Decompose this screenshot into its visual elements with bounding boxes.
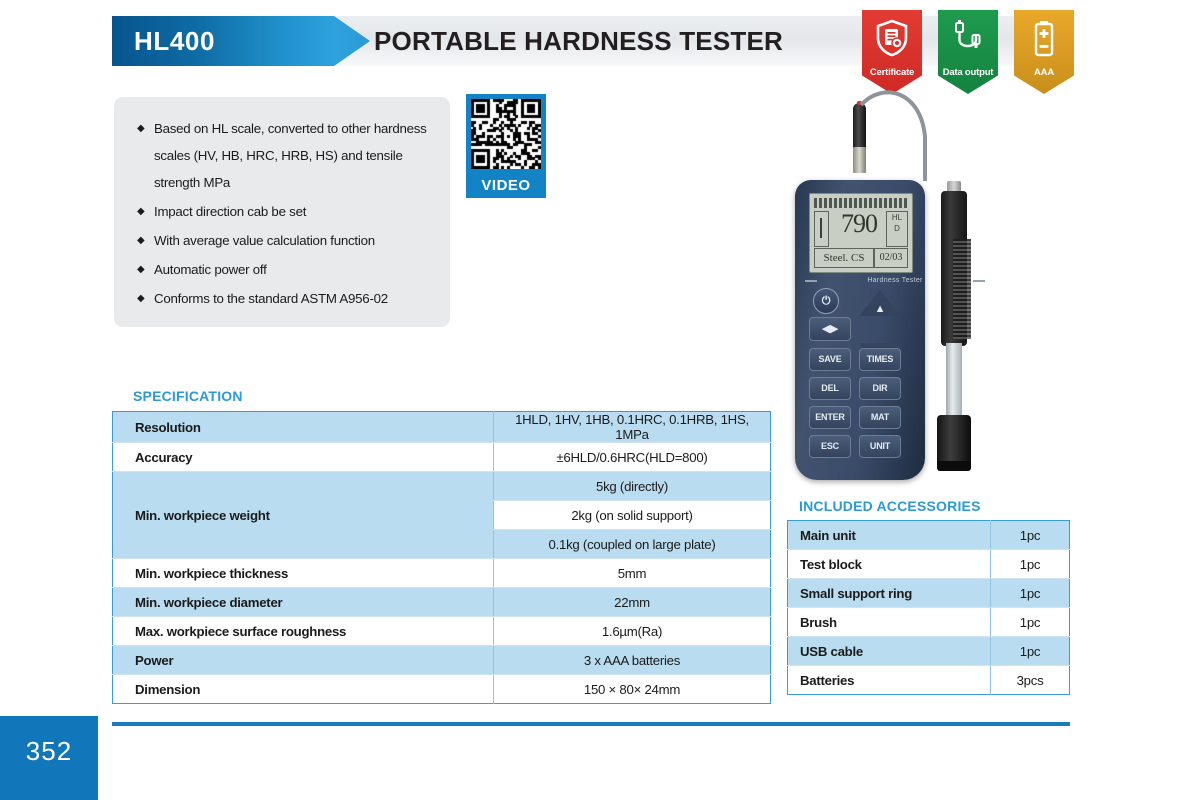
feature-text: Conforms to the standard ASTM A956-02 xyxy=(154,291,388,306)
battery-badge: AAA xyxy=(1014,10,1074,94)
model-name: HL400 xyxy=(134,16,215,66)
specification-title: SPECIFICATION xyxy=(133,388,243,404)
lcd-hardness-value: 790 xyxy=(830,209,888,239)
spec-label: Min. workpiece thickness xyxy=(113,559,494,588)
data-output-badge-label: Data output xyxy=(938,67,998,78)
footer-rule xyxy=(112,722,1070,726)
up-button[interactable]: ▲ xyxy=(859,290,901,316)
catalog-page: HL400 PORTABLE HARDNESS TESTER Certifica… xyxy=(0,0,1184,800)
certificate-shield-icon xyxy=(862,18,922,60)
diamond-bullet-icon: ◆ xyxy=(137,285,144,312)
table-row: Min. workpiece diameter 22mm xyxy=(113,588,771,617)
accessory-qty: 3pcs xyxy=(991,666,1070,695)
lcd-display: 790 HLD Steel. CS 02/03 xyxy=(809,193,913,273)
spec-label: Power xyxy=(113,646,494,675)
unit-button[interactable]: UNIT xyxy=(859,435,901,458)
diamond-bullet-icon: ◆ xyxy=(137,256,144,283)
accessory-label: Main unit xyxy=(788,521,991,550)
table-row: Batteries 3pcs xyxy=(788,666,1070,695)
diamond-bullet-icon: ◆ xyxy=(137,227,144,254)
impact-direction-icon xyxy=(814,211,829,247)
table-row: Small support ring 1pc xyxy=(788,579,1070,608)
spec-value: 22mm xyxy=(494,588,771,617)
probe-support-ring xyxy=(937,415,971,467)
accessory-label: Small support ring xyxy=(788,579,991,608)
table-row: Max. workpiece surface roughness 1.6µm(R… xyxy=(113,617,771,646)
feature-text: Based on HL scale, converted to other ha… xyxy=(154,121,427,190)
table-row: Resolution 1HLD, 1HV, 1HB, 0.1HRC, 0.1HR… xyxy=(113,412,771,443)
feature-item: ◆ Automatic power off xyxy=(136,256,438,283)
enter-button[interactable]: ENTER xyxy=(809,406,851,429)
certificate-badge-label: Certificate xyxy=(862,67,922,78)
spec-label: Min. workpiece weight xyxy=(113,472,494,559)
accessory-label: USB cable xyxy=(788,637,991,666)
table-row: Power 3 x AAA batteries xyxy=(113,646,771,675)
data-output-badge: Data output xyxy=(938,10,998,94)
up-glyph: ▲ xyxy=(859,299,901,320)
spec-value: 150 × 80× 24mm xyxy=(494,675,771,704)
accessory-label: Batteries xyxy=(788,666,991,695)
spec-label: Dimension xyxy=(113,675,494,704)
specification-table: Resolution 1HLD, 1HV, 1HB, 0.1HRC, 0.1HR… xyxy=(112,411,771,704)
video-qr-block[interactable]: VIDEO xyxy=(466,94,546,198)
video-label: VIDEO xyxy=(466,174,546,198)
dir-button[interactable]: DIR xyxy=(859,377,901,400)
accessory-label: Test block xyxy=(788,550,991,579)
spec-value: 3 x AAA batteries xyxy=(494,646,771,675)
spec-label: Min. workpiece diameter xyxy=(113,588,494,617)
spec-value: 1.6µm(Ra) xyxy=(494,617,771,646)
lcd-main-row: 790 HLD xyxy=(814,211,908,245)
spec-value: 0.1kg (coupled on large plate) xyxy=(494,530,771,559)
device-keypad: ⏻ ◀▶ ▲ ▼ SAVE TIMES DEL DIR ENTER MAT ES… xyxy=(805,290,915,470)
page-title: PORTABLE HARDNESS TESTER xyxy=(374,16,783,66)
mat-button[interactable]: MAT xyxy=(859,406,901,429)
features-panel: ◆ Based on HL scale, converted to other … xyxy=(114,97,450,327)
qr-code-matrix xyxy=(471,99,541,169)
feature-item: ◆ Based on HL scale, converted to other … xyxy=(136,115,438,196)
table-row: Dimension 150 × 80× 24mm xyxy=(113,675,771,704)
table-row: Main unit 1pc xyxy=(788,521,1070,550)
accessory-qty: 1pc xyxy=(991,521,1070,550)
usb-cable-icon xyxy=(938,18,998,60)
feature-text: Impact direction cab be set xyxy=(154,204,306,219)
diamond-bullet-icon: ◆ xyxy=(137,115,144,142)
lcd-bottom-row: Steel. CS 02/03 xyxy=(814,248,908,266)
del-button[interactable]: DEL xyxy=(809,377,851,400)
lcd-material: Steel. CS xyxy=(814,248,874,268)
accessory-label: Brush xyxy=(788,608,991,637)
probe-base xyxy=(937,461,971,471)
table-row: USB cable 1pc xyxy=(788,637,1070,666)
esc-button[interactable]: ESC xyxy=(809,435,851,458)
accessories-title: INCLUDED ACCESSORIES xyxy=(799,498,981,514)
probe-loading-tube xyxy=(946,343,962,421)
lcd-counter: 02/03 xyxy=(874,248,908,268)
battery-icon xyxy=(1014,18,1074,60)
page-number-box: 352 xyxy=(0,716,98,800)
table-row: Min. workpiece weight 5kg (directly) xyxy=(113,472,771,501)
feature-text: With average value calculation function xyxy=(154,233,375,248)
certificate-badge: Certificate xyxy=(862,10,922,94)
table-row: Min. workpiece thickness 5mm xyxy=(113,559,771,588)
battery-badge-label: AAA xyxy=(1014,67,1074,78)
accessory-qty: 1pc xyxy=(991,637,1070,666)
table-row: Test block 1pc xyxy=(788,550,1070,579)
product-image: 790 HLD Steel. CS 02/03 Hardness Tester … xyxy=(775,85,1015,495)
specification-table-body: Resolution 1HLD, 1HV, 1HB, 0.1HRC, 0.1HR… xyxy=(113,412,771,704)
probe-grip xyxy=(941,191,967,346)
spec-label: Resolution xyxy=(113,412,494,443)
spec-value: 5kg (directly) xyxy=(494,472,771,501)
accessory-qty: 1pc xyxy=(991,608,1070,637)
hl-unit-icon: HLD xyxy=(886,211,908,247)
features-list: ◆ Based on HL scale, converted to other … xyxy=(136,115,438,314)
feature-item: ◆ With average value calculation functio… xyxy=(136,227,438,254)
left-right-arrows-icon: ◀▶ xyxy=(822,323,839,335)
accessories-table-body: Main unit 1pc Test block 1pc Small suppo… xyxy=(788,521,1070,695)
feature-item: ◆ Impact direction cab be set xyxy=(136,198,438,225)
accessory-qty: 1pc xyxy=(991,579,1070,608)
spec-value: ±6HLD/0.6HRC(HLD=800) xyxy=(494,443,771,472)
diamond-bullet-icon: ◆ xyxy=(137,198,144,225)
qr-code-icon[interactable] xyxy=(466,94,546,174)
lcd-status-bar xyxy=(814,198,908,208)
feature-item: ◆ Conforms to the standard ASTM A956-02 xyxy=(136,285,438,312)
device-brand-text: Hardness Tester xyxy=(775,277,1015,284)
spec-value: 5mm xyxy=(494,559,771,588)
probe-knurling xyxy=(953,239,971,339)
spec-label: Max. workpiece surface roughness xyxy=(113,617,494,646)
power-icon: ⏻ xyxy=(822,295,831,307)
accessory-qty: 1pc xyxy=(991,550,1070,579)
table-row: Brush 1pc xyxy=(788,608,1070,637)
spec-value: 1HLD, 1HV, 1HB, 0.1HRC, 0.1HRB, 1HS, 1MP… xyxy=(494,412,771,443)
impact-probe xyxy=(933,173,975,493)
table-row: Accuracy ±6HLD/0.6HRC(HLD=800) xyxy=(113,443,771,472)
left-right-button[interactable]: ◀▶ xyxy=(809,317,851,341)
save-button[interactable]: SAVE xyxy=(809,348,851,371)
accessories-table: Main unit 1pc Test block 1pc Small suppo… xyxy=(787,520,1070,695)
times-button[interactable]: TIMES xyxy=(859,348,901,371)
spec-label: Accuracy xyxy=(113,443,494,472)
power-button[interactable]: ⏻ xyxy=(813,288,839,314)
spec-value: 2kg (on solid support) xyxy=(494,501,771,530)
feature-text: Automatic power off xyxy=(154,262,267,277)
page-number: 352 xyxy=(0,736,98,767)
